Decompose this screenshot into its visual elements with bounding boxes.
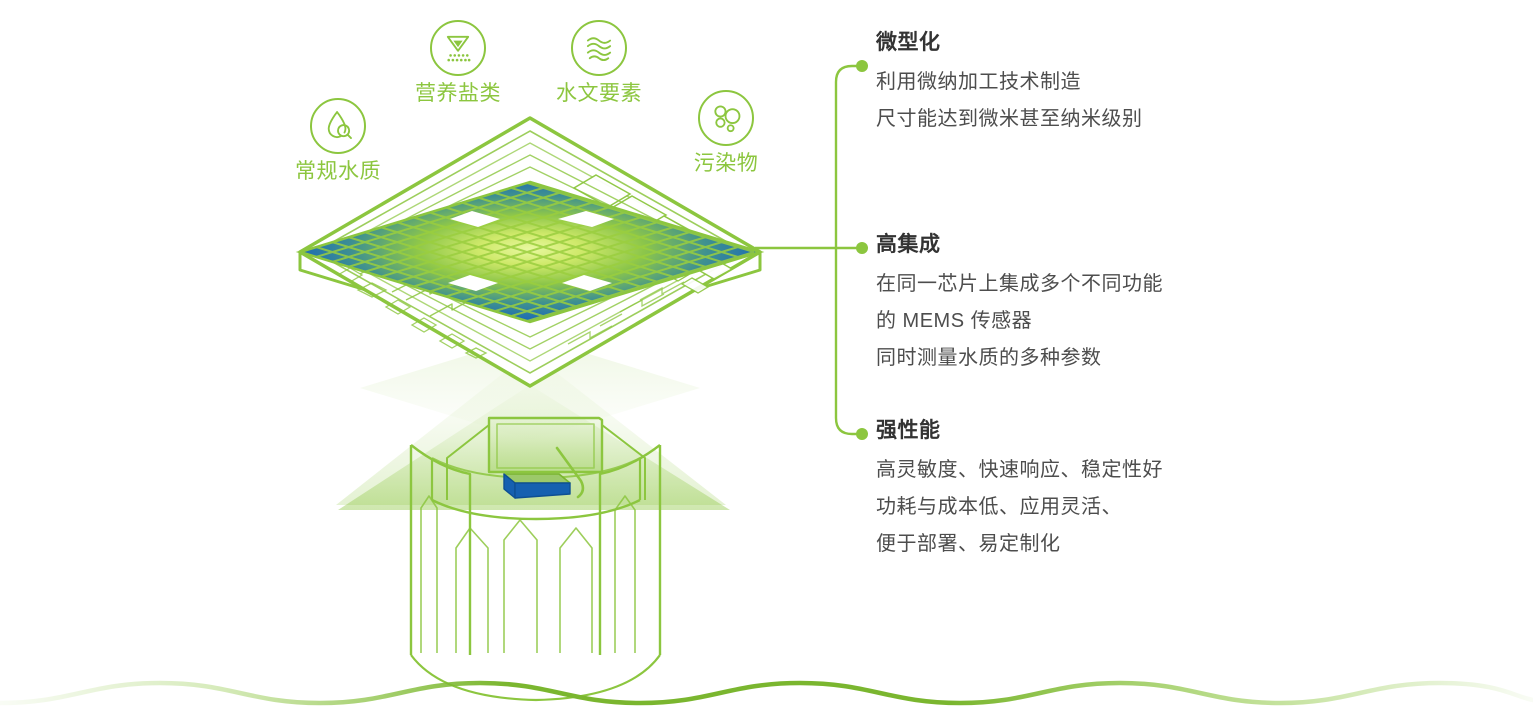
connector-dot-performance <box>856 428 868 440</box>
infographic-canvas: 常规水质 营养盐类 <box>0 0 1533 720</box>
feature-line: 同时测量水质的多种参数 <box>876 340 1163 377</box>
feature-miniaturization: 微型化 利用微纳加工技术制造 尺寸能达到微米甚至纳米级别 <box>876 30 1143 138</box>
water-waves-icon <box>571 20 627 76</box>
sensor-label: 常规水质 <box>268 160 408 183</box>
feature-line: 功耗与成本低、应用灵活、 <box>876 489 1163 526</box>
connector-dot-miniaturization <box>856 60 868 72</box>
feature-callout-list: 微型化 利用微纳加工技术制造 尺寸能达到微米甚至纳米级别 高集成 在同一芯片上集… <box>876 0 1516 720</box>
sensor-label: 水文要素 <box>529 82 669 105</box>
housing-inner-chip <box>504 474 570 498</box>
feature-title: 强性能 <box>876 418 1163 444</box>
feature-title: 微型化 <box>876 30 1143 56</box>
funnel-particles-icon <box>430 20 486 76</box>
feature-title: 高集成 <box>876 232 1163 258</box>
sensor-label: 污染物 <box>656 152 796 175</box>
feature-line: 高灵敏度、快速响应、稳定性好 <box>876 452 1163 489</box>
feature-line: 利用微纳加工技术制造 <box>876 64 1143 101</box>
feature-line: 的 MEMS 传感器 <box>876 303 1163 340</box>
mems-die <box>300 182 760 322</box>
water-drop-magnifier-icon <box>310 98 366 154</box>
feature-strong-performance: 强性能 高灵敏度、快速响应、稳定性好 功耗与成本低、应用灵活、 便于部署、易定制… <box>876 418 1163 563</box>
sensor-node-nutrient-salts[interactable]: 营养盐类 <box>388 20 528 105</box>
feature-line: 尺寸能达到微米甚至纳米级别 <box>876 101 1143 138</box>
feature-high-integration: 高集成 在同一芯片上集成多个不同功能 的 MEMS 传感器 同时测量水质的多种参… <box>876 232 1163 377</box>
sensor-label: 营养盐类 <box>388 82 528 105</box>
feature-line: 便于部署、易定制化 <box>876 526 1163 563</box>
bubbles-icon <box>698 90 754 146</box>
feature-line: 在同一芯片上集成多个不同功能 <box>876 266 1163 303</box>
connector-dot-integration <box>856 242 868 254</box>
sensor-node-hydrological-factors[interactable]: 水文要素 <box>529 20 669 105</box>
sensor-node-pollutants[interactable]: 污染物 <box>656 90 796 175</box>
sensor-node-routine-water-quality[interactable]: 常规水质 <box>268 98 408 183</box>
